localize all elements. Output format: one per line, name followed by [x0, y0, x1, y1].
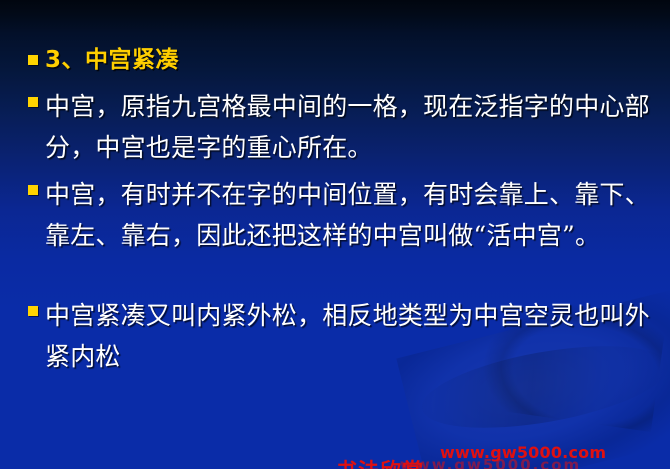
watermark-url: www.gw5000.com: [440, 443, 606, 462]
bullet-item-1: 中宫，原指九宫格最中间的一格，现在泛指字的中心部分，中宫也是字的重心所在。: [28, 86, 660, 168]
slide-title-row: 3、中宫紧凑: [28, 46, 179, 75]
bullet-item-text: 中宫紧凑又叫内紧外松，相反地类型为中宫空灵也叫外紧内松: [45, 295, 660, 377]
bullet-item-2: 中宫，有时并不在字的中间位置，有时会靠上、靠下、靠左、靠右，因此还把这样的中宫叫…: [28, 174, 660, 256]
square-bullet-icon: [28, 185, 38, 195]
bullet-item-text: 中宫，原指九宫格最中间的一格，现在泛指字的中心部分，中宫也是字的重心所在。: [45, 86, 660, 168]
square-bullet-icon: [28, 97, 38, 107]
square-bullet-icon: [28, 306, 38, 316]
page-title: 3、中宫紧凑: [45, 46, 179, 75]
presentation-slide: 3、中宫紧凑 中宫，原指九宫格最中间的一格，现在泛指字的中心部分，中宫也是字的重…: [0, 0, 670, 469]
bullet-item-3: 中宫紧凑又叫内紧外松，相反地类型为中宫空灵也叫外紧内松: [28, 295, 660, 377]
bullet-item-text: 中宫，有时并不在字的中间位置，有时会靠上、靠下、靠左、靠右，因此还把这样的中宫叫…: [45, 174, 660, 256]
square-bullet-icon: [28, 55, 38, 65]
